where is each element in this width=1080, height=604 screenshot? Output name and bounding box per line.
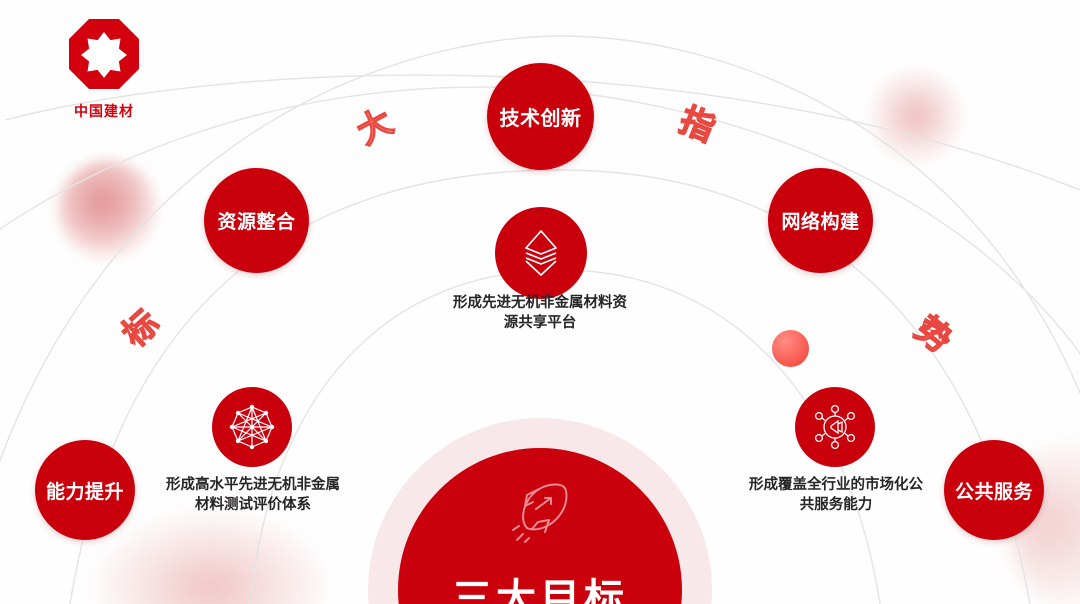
label-text-network-construction: 网络构建 xyxy=(781,207,859,234)
goal-icon-testing[interactable] xyxy=(212,387,292,467)
label-bubble-resource-integration[interactable]: 资源整合 xyxy=(204,168,309,273)
decor-blob-top-right xyxy=(868,68,964,164)
goal-icon-service[interactable] xyxy=(795,387,875,467)
label-text-capability-improvement: 能力提升 xyxy=(46,477,124,504)
infographic-canvas: 中国建材 大 指 标 势 技术创新 资源整合 网络构建 能力提升 公共服务 形成… xyxy=(0,0,1080,604)
decor-char-shi: 势 xyxy=(909,311,957,359)
layers-diamond-icon xyxy=(518,228,564,278)
label-text-resource-integration: 资源整合 xyxy=(217,207,295,234)
megaphone-network-icon xyxy=(810,402,860,452)
decor-char-da: 大 xyxy=(352,104,398,150)
brand-name: 中国建材 xyxy=(52,101,156,121)
goal-caption-testing: 形成高水平先进无机非金属 材料测试评价体系 xyxy=(137,476,369,515)
decor-blob-bottom-left xyxy=(96,512,326,604)
network-polygon-icon xyxy=(228,403,276,451)
brand-logo: 中国建材 xyxy=(52,16,156,121)
decor-char-zhi: 指 xyxy=(675,103,719,147)
label-text-tech-innovation: 技术创新 xyxy=(500,102,582,131)
goal-icon-platform[interactable] xyxy=(495,207,587,299)
decor-dot-right xyxy=(772,330,809,367)
label-bubble-tech-innovation[interactable]: 技术创新 xyxy=(487,63,594,170)
decor-blob-left xyxy=(58,160,158,260)
goal-caption-service: 形成覆盖全行业的市场化公 共服务能力 xyxy=(718,476,954,515)
hero-title: 三大目标 xyxy=(452,566,628,604)
octagon-star-logo-icon xyxy=(66,16,142,92)
label-text-public-service: 公共服务 xyxy=(955,477,1033,504)
label-bubble-network-construction[interactable]: 网络构建 xyxy=(768,168,873,273)
label-bubble-public-service[interactable]: 公共服务 xyxy=(944,440,1044,540)
decor-char-biao: 标 xyxy=(117,305,165,353)
label-bubble-capability-improvement[interactable]: 能力提升 xyxy=(35,440,135,540)
rocket-icon xyxy=(501,476,579,554)
goal-caption-platform: 形成先进无机非金属材料资 源共享平台 xyxy=(420,294,660,333)
